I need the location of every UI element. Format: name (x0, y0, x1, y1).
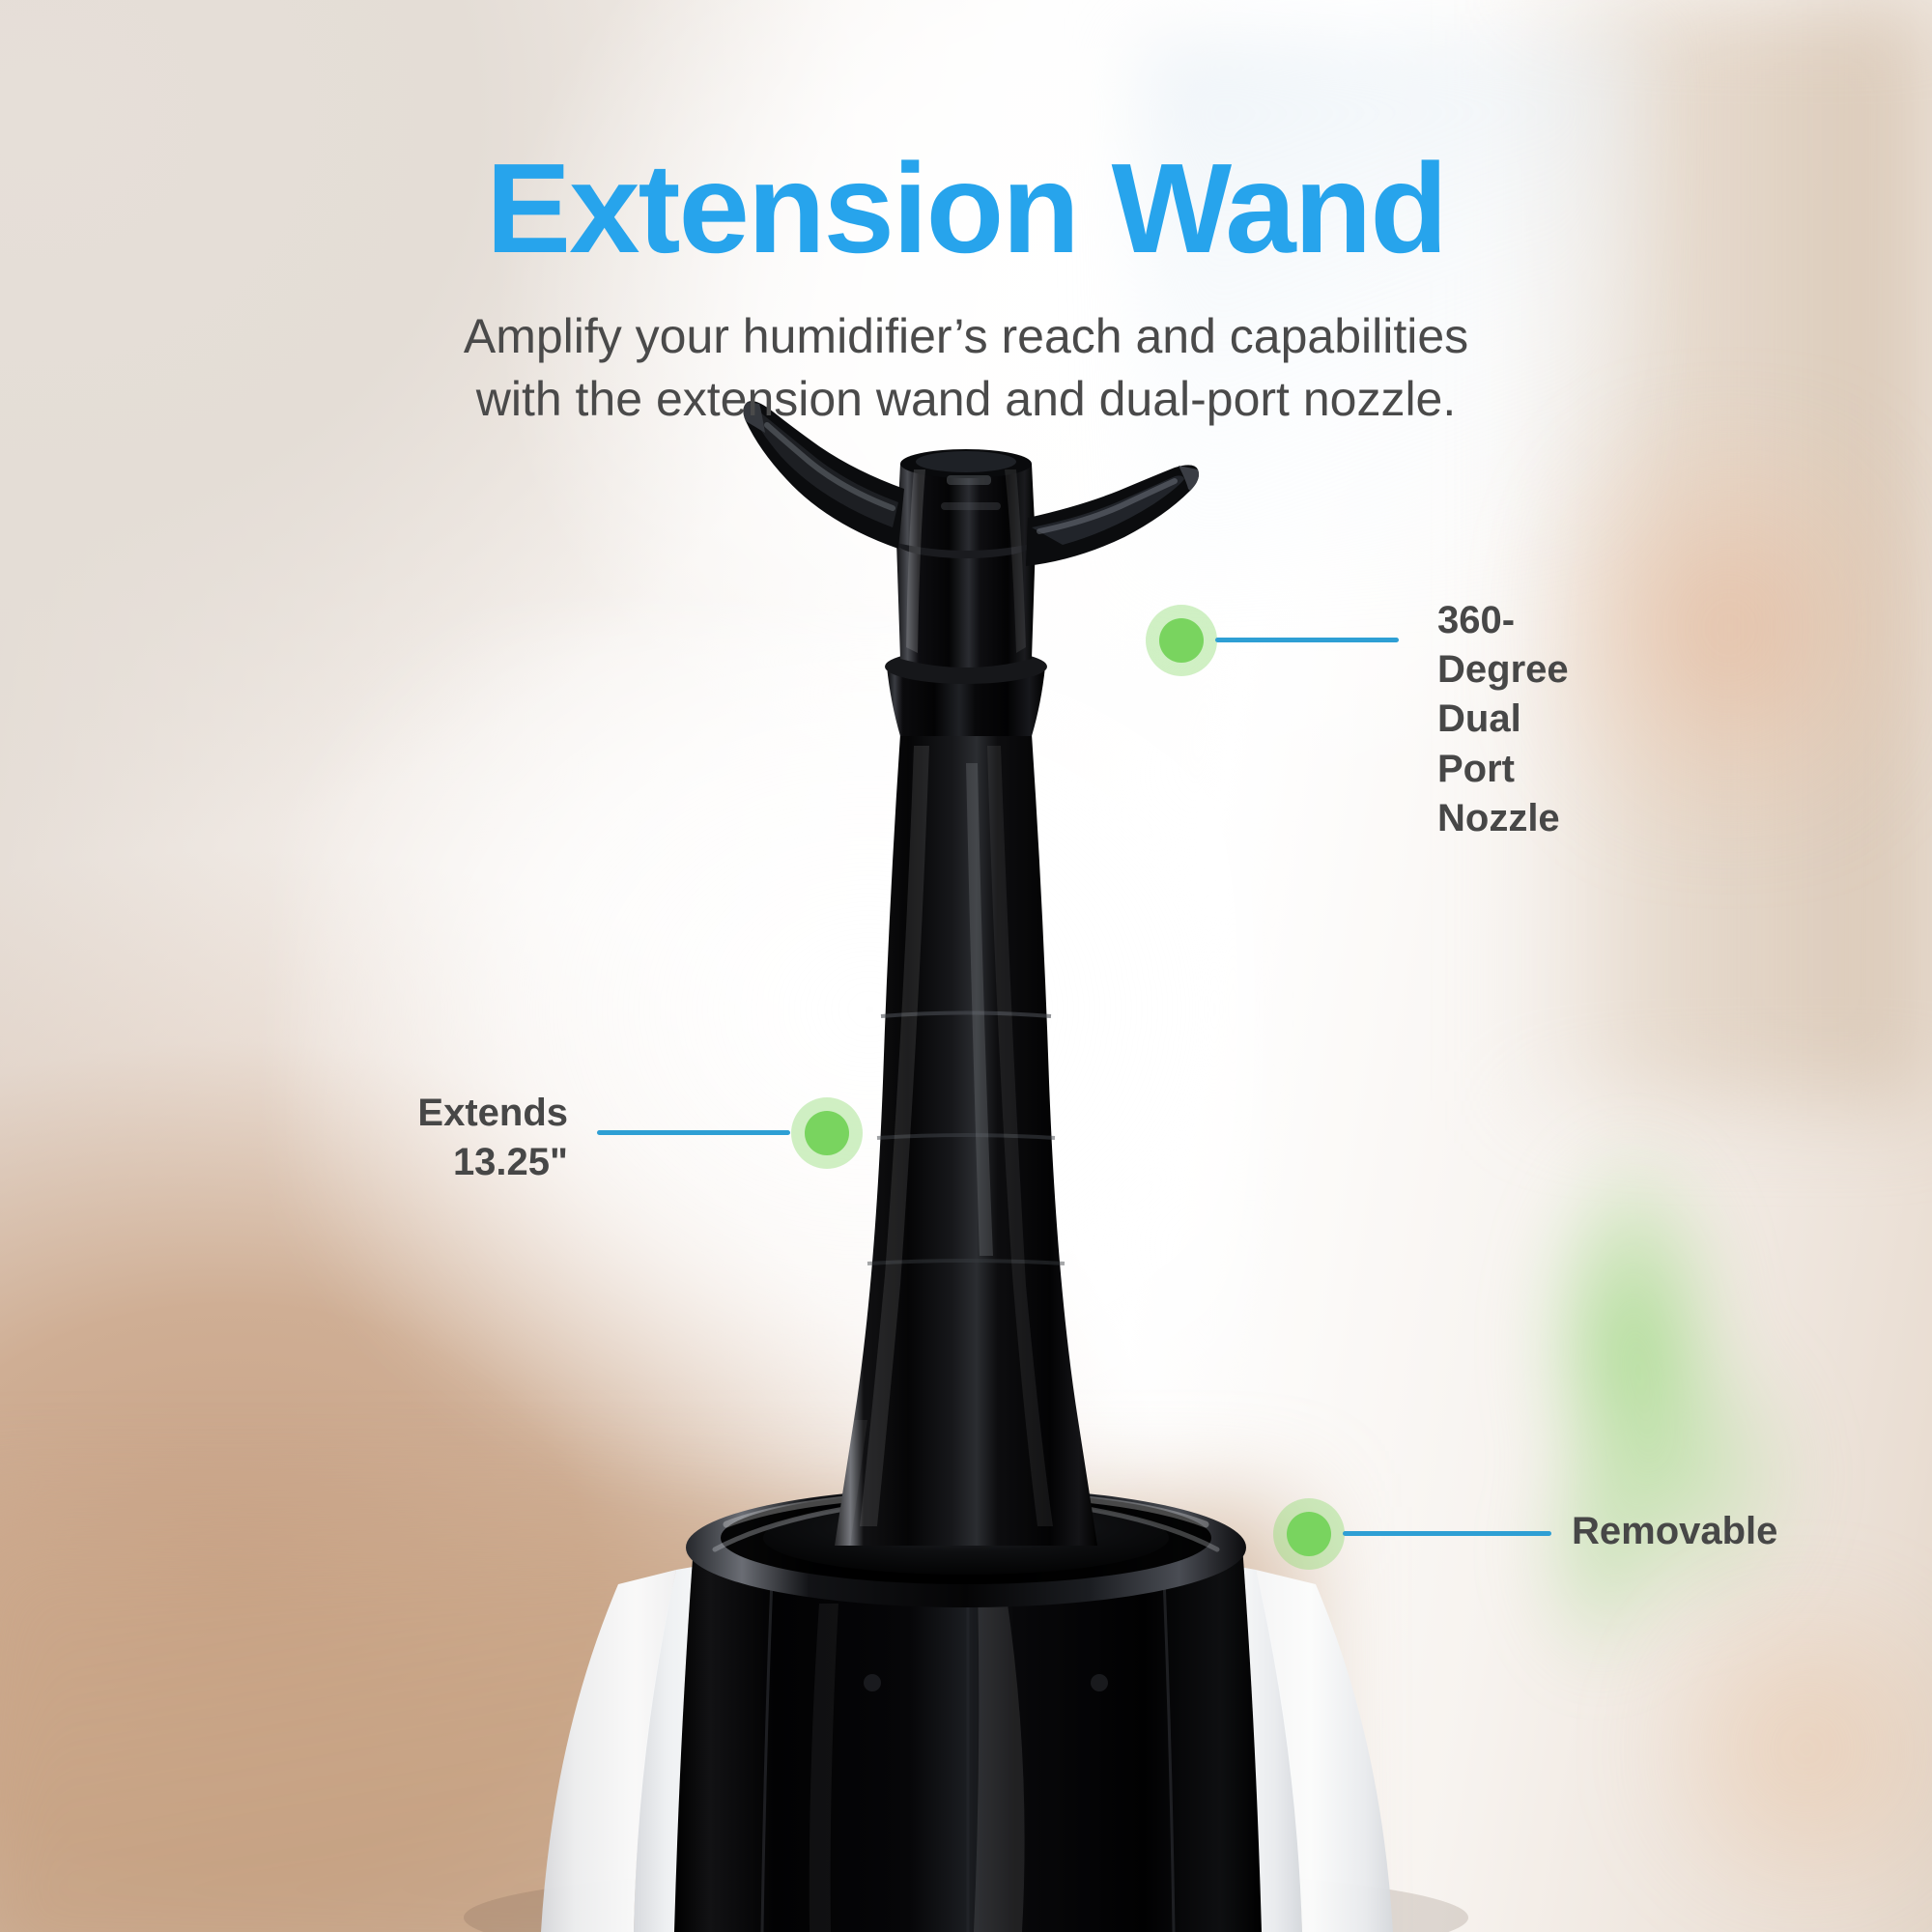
callout-dot-icon (1287, 1512, 1331, 1556)
page-subtitle: Amplify your humidifier’s reach and capa… (0, 305, 1932, 431)
callout-leader-line (597, 1130, 790, 1135)
callout-leader-line (1215, 638, 1399, 642)
callout-leader-line (1343, 1531, 1551, 1536)
header-block: Extension Wand Amplify your humidifier’s… (0, 0, 1932, 431)
callout-label-nozzle: 360-Degree Dual Port Nozzle (1437, 596, 1569, 843)
subtitle-line-2: with the extension wand and dual-port no… (0, 368, 1932, 431)
callout-dot-icon (1159, 618, 1204, 663)
callout-label-removable: Removable (1572, 1507, 1777, 1556)
callout-dot-icon (805, 1111, 849, 1155)
callout-label-extends: Extends 13.25" (290, 1089, 568, 1187)
page-title: Extension Wand (0, 145, 1932, 272)
product-feature-graphic: Extension Wand Amplify your humidifier’s… (0, 0, 1932, 1932)
subtitle-line-1: Amplify your humidifier’s reach and capa… (0, 305, 1932, 368)
